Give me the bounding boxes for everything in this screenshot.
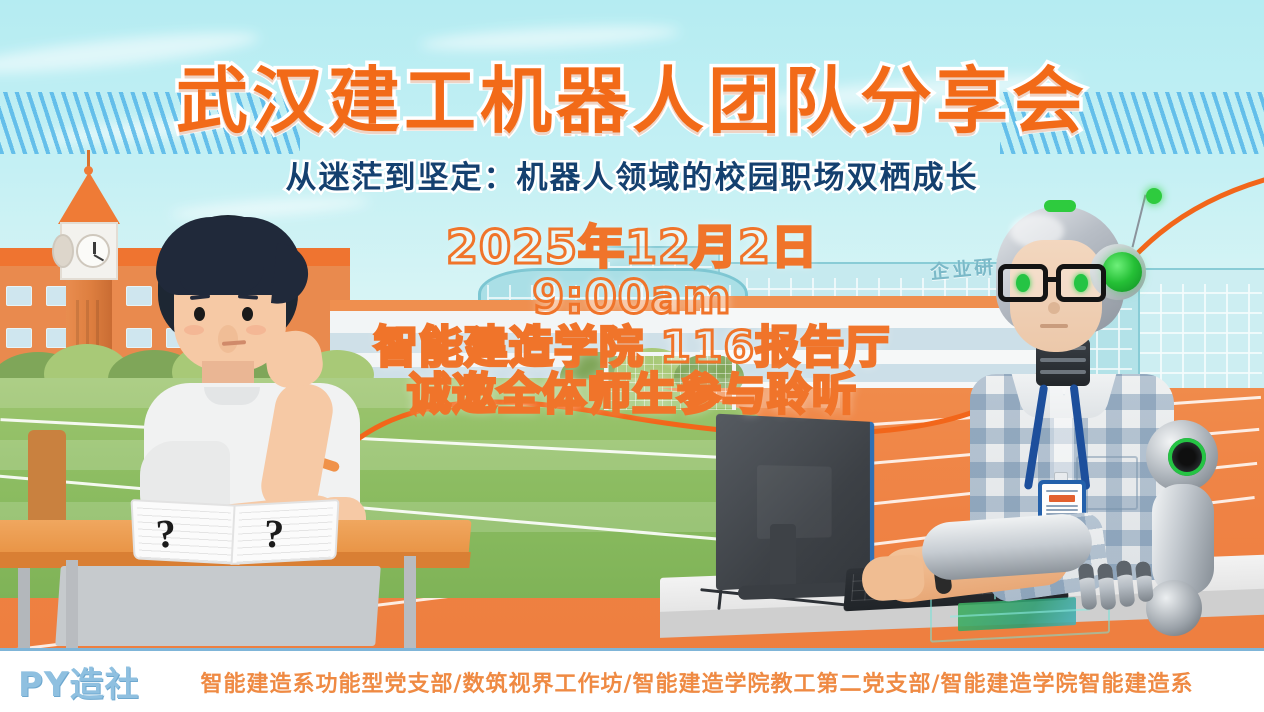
monitor-stand bbox=[770, 524, 796, 590]
question-mark-icon: ? bbox=[154, 509, 177, 557]
robot-shoulder-core-icon bbox=[1168, 438, 1206, 476]
organizers-text: 智能建造系功能型党支部/数筑视界工作坊/智能建造学院教工第二党支部/智能建造学院… bbox=[190, 666, 1264, 698]
bottom-banner: PY造社 智能建造系功能型党支部/数筑视界工作坊/智能建造学院教工第二党支部/智… bbox=[0, 648, 1264, 712]
question-mark-icon: ? bbox=[263, 510, 285, 558]
robot-head-indicator-icon bbox=[1044, 200, 1076, 212]
robot-mechanical-hand bbox=[1078, 556, 1169, 613]
poster-title: 武汉建工机器人团队分享会 bbox=[0, 42, 1264, 147]
open-book: ? ? bbox=[132, 502, 342, 568]
event-poster: 企业研实心拼 bbox=[0, 0, 1264, 712]
event-info-block: 2025年12月2日 9:00am 智能建造学院 116报告厅 诚邀全体师生参与… bbox=[0, 222, 1264, 420]
typing-hand bbox=[861, 554, 926, 602]
desk-drawer bbox=[55, 566, 381, 646]
event-invitation: 诚邀全体师生参与聆听 bbox=[0, 370, 1264, 419]
event-venue: 智能建造学院 116报告厅 bbox=[0, 323, 1264, 372]
robot-metal-arm bbox=[920, 512, 1094, 582]
event-time: 9:00am bbox=[0, 272, 1264, 324]
event-date: 2025年12月2日 bbox=[0, 222, 1264, 274]
organization-logo: PY造社 bbox=[18, 657, 190, 706]
poster-subtitle: 从迷茫到坚定：机器人领域的校园职场双栖成长 bbox=[0, 152, 1264, 197]
